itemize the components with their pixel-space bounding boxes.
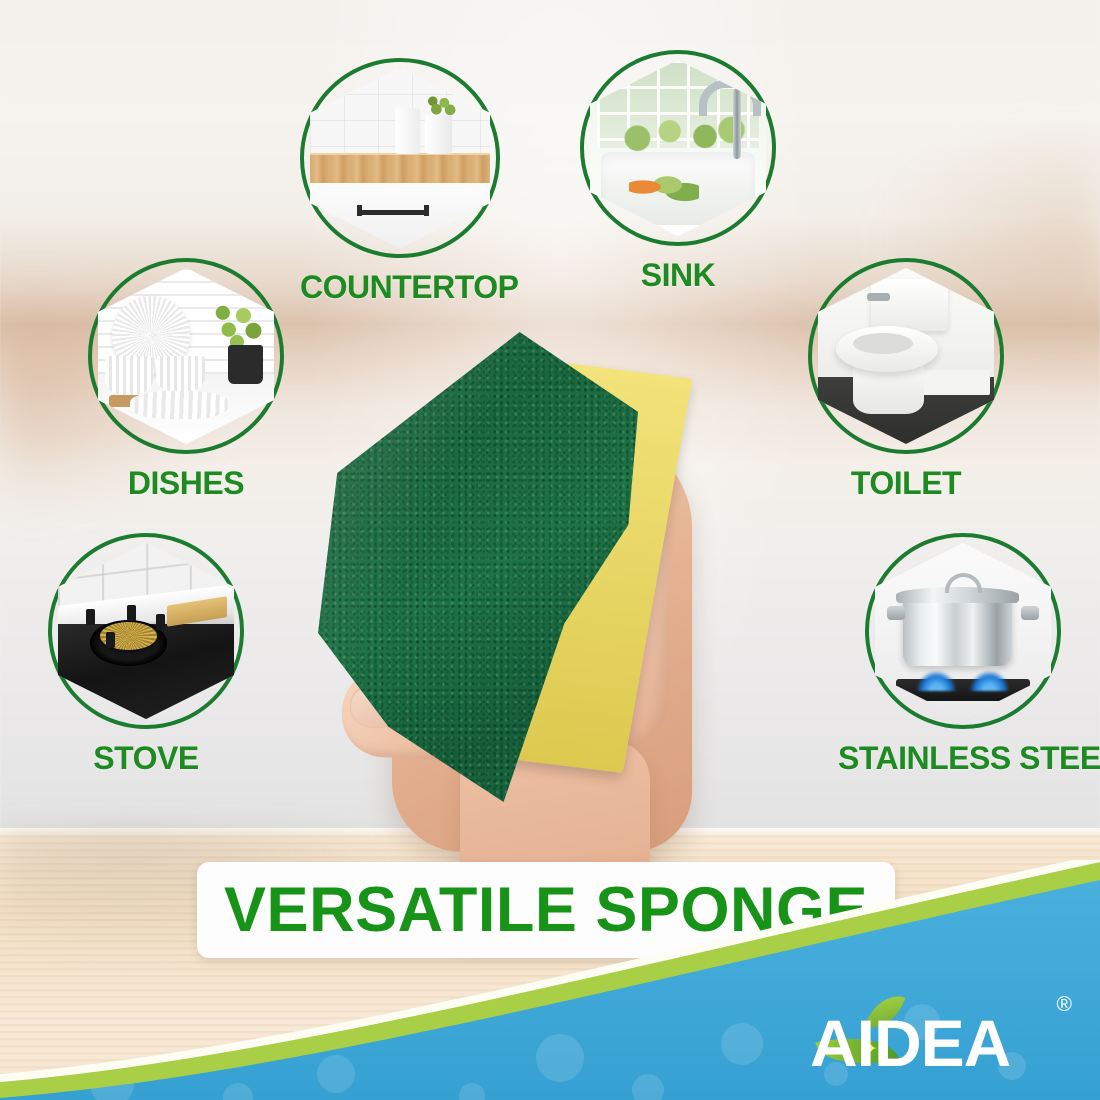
product-hero-image: [300, 320, 800, 850]
toilet-photo-icon: [808, 258, 1004, 454]
callout-label-sink: SINK: [580, 259, 776, 291]
dishes-photo-icon: [88, 258, 284, 454]
callout-label-countertop: COUNTERTOP: [300, 271, 500, 303]
product-marketing-poster: COUNTERTOP SINK DISHES: [0, 0, 1100, 1100]
callout-stainless-steel[interactable]: STAINLESS STEEL: [865, 533, 1088, 774]
callout-label-toilet: TOILET: [808, 467, 1004, 499]
callout-sink[interactable]: SINK: [580, 50, 776, 291]
countertop-photo-icon: [300, 58, 500, 258]
sink-photo-icon: [580, 50, 776, 246]
callout-label-stove: STOVE: [48, 742, 244, 774]
sponge-product: [300, 320, 800, 850]
callout-label-dishes: DISHES: [88, 467, 284, 499]
brand-name: AIDEA: [810, 1010, 1010, 1076]
stove-photo-icon: [48, 533, 244, 729]
callout-dishes[interactable]: DISHES: [88, 258, 284, 499]
callout-label-stainless-steel: STAINLESS STEEL: [838, 742, 1088, 774]
callout-countertop[interactable]: COUNTERTOP: [300, 58, 500, 303]
stainless-steel-photo-icon: [865, 533, 1061, 729]
callout-toilet[interactable]: TOILET: [808, 258, 1004, 499]
brand-logo[interactable]: ✦ AIDEA ®: [798, 990, 1078, 1082]
callout-stove[interactable]: STOVE: [48, 533, 244, 774]
registered-trademark-symbol: ®: [1057, 994, 1072, 1015]
